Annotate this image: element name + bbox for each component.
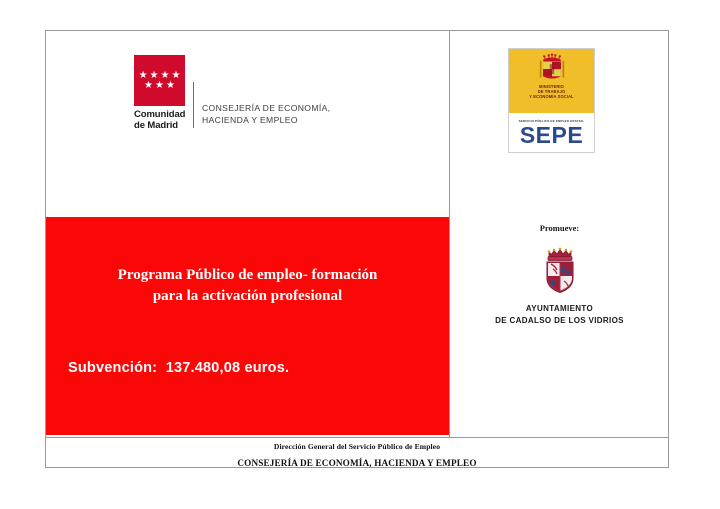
subsidy-label: Subvención: xyxy=(68,360,157,376)
spain-coat-of-arms-icon xyxy=(535,53,569,83)
star-icon: ★ xyxy=(171,71,180,80)
poster-page: ★ ★ ★ ★ ★ ★ ★ Comunidad de Madr xyxy=(0,0,720,509)
comunidad-wordmark: Comunidad de Madrid xyxy=(134,110,185,131)
program-title: Programa Público de empleo- formación pa… xyxy=(46,265,449,307)
footer-line-2: CONSEJERÍA DE ECONOMÍA, HACIENDA Y EMPLE… xyxy=(46,458,668,468)
footer-line-1: Dirección General del Servicio Público d… xyxy=(46,442,668,451)
right-column: MINISTERIO DE TRABAJO Y ECONOMÍA SOCIAL … xyxy=(450,31,669,437)
comunidad-de-madrid-logo: ★ ★ ★ ★ ★ ★ ★ Comunidad de Madr xyxy=(134,55,330,131)
madrid-flag-icon: ★ ★ ★ ★ ★ ★ ★ xyxy=(134,55,185,106)
star-icon: ★ xyxy=(166,81,175,90)
footer: Dirección General del Servicio Público d… xyxy=(46,437,668,467)
red-banner: Programa Público de empleo- formación pa… xyxy=(46,217,449,435)
promoter-label: Promueve: xyxy=(450,223,669,233)
comunidad-mark: ★ ★ ★ ★ ★ ★ ★ Comunidad de Madr xyxy=(134,55,185,131)
star-row-top: ★ ★ ★ ★ xyxy=(139,71,181,80)
star-icon: ★ xyxy=(150,71,159,80)
sepe-logo: MINISTERIO DE TRABAJO Y ECONOMÍA SOCIAL … xyxy=(508,48,595,153)
subsidy-value: 137.480,08 euros. xyxy=(166,360,290,376)
program-title-line-1: Programa Público de empleo- formación xyxy=(46,265,449,286)
star-icon: ★ xyxy=(161,71,170,80)
star-icon: ★ xyxy=(144,81,153,90)
promoter-coat-of-arms-wrap xyxy=(450,243,669,295)
subsidy-amount-row: Subvención: 137.480,08 euros. xyxy=(68,360,289,376)
sepe-ministry-block: MINISTERIO DE TRABAJO Y ECONOMÍA SOCIAL xyxy=(509,49,594,113)
department-name: CONSEJERÍA DE ECONOMÍA, HACIENDA Y EMPLE… xyxy=(202,103,330,131)
star-icon: ★ xyxy=(155,81,164,90)
star-row-bottom: ★ ★ ★ xyxy=(144,81,175,90)
logo-divider-rule xyxy=(193,82,194,128)
sepe-acronym-block: SERVICIO PÚBLICO DE EMPLEO ESTATAL SEPE xyxy=(509,113,594,152)
document-frame: ★ ★ ★ ★ ★ ★ ★ Comunidad de Madr xyxy=(45,30,669,468)
star-icon: ★ xyxy=(139,71,148,80)
program-title-line-2: para la activación profesional xyxy=(46,286,449,307)
left-column: ★ ★ ★ ★ ★ ★ ★ Comunidad de Madr xyxy=(46,31,449,437)
promoter-name: AYUNTAMIENTO DE CADALSO DE LOS VIDRIOS xyxy=(450,303,669,327)
wordmark-line-1: Comunidad xyxy=(134,110,185,121)
sepe-acronym: SEPE xyxy=(520,124,583,147)
sepe-ministry-text: MINISTERIO DE TRABAJO Y ECONOMÍA SOCIAL xyxy=(529,84,573,99)
wordmark-line-2: de Madrid xyxy=(134,121,185,132)
cadalso-de-los-vidrios-shield-icon xyxy=(540,243,580,295)
